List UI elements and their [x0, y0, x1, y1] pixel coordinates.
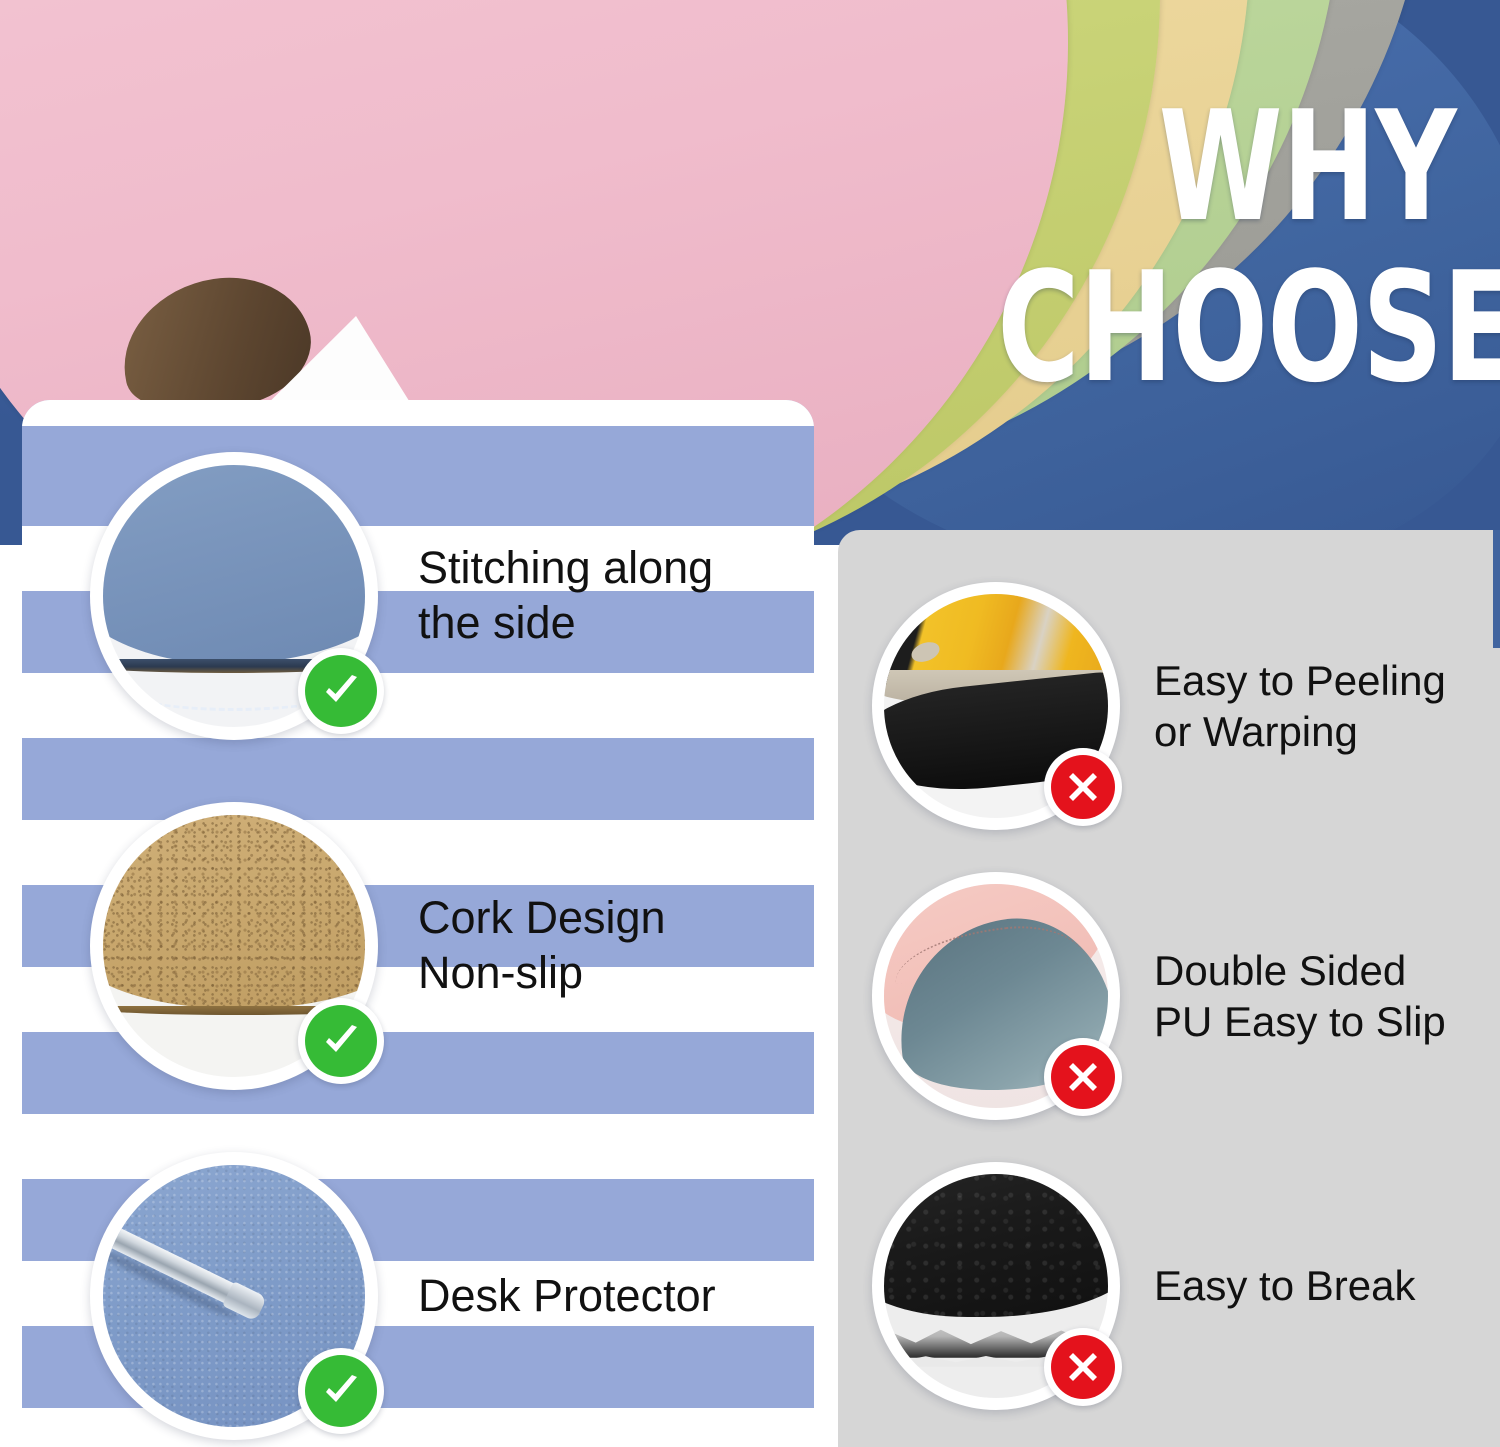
- cons-thumb-3: [872, 1162, 1120, 1410]
- black-rubber-slab: [884, 1174, 1108, 1317]
- pros-feature-row: Desk Protector: [90, 1152, 716, 1440]
- cons-feature-row: Easy to Break: [872, 1162, 1415, 1410]
- pros-feature-row: Stitching along the side: [90, 452, 713, 740]
- cork-surface: [103, 815, 365, 1009]
- panel-edge-accent: [1493, 530, 1500, 648]
- pros-thumb-1: [90, 452, 378, 740]
- pros-label-3: Desk Protector: [418, 1269, 716, 1324]
- page-title-line-1: WHY: [997, 96, 1456, 239]
- check-icon: [316, 1016, 366, 1066]
- cons-thumb-2: [872, 872, 1120, 1120]
- cross-badge-3: [1044, 1328, 1122, 1406]
- cross-icon: [1062, 1056, 1104, 1098]
- cross-icon: [1062, 1346, 1104, 1388]
- pros-label-1: Stitching along the side: [418, 541, 713, 651]
- cross-icon: [1062, 766, 1104, 808]
- pros-thumb-2: [90, 802, 378, 1090]
- pros-label-2: Cork Design Non-slip: [418, 891, 666, 1001]
- cons-feature-row: Double Sided PU Easy to Slip: [872, 872, 1446, 1120]
- pros-feature-row: Cork Design Non-slip: [90, 802, 666, 1090]
- check-badge-1: [298, 648, 384, 734]
- blue-mat-surface: [103, 465, 365, 664]
- check-badge-3: [298, 1348, 384, 1434]
- cons-label-1: Easy to Peeling or Warping: [1154, 655, 1446, 757]
- page-title-line-2: CHOOSE US: [997, 257, 1456, 400]
- cons-feature-row: Easy to Peeling or Warping: [872, 582, 1446, 830]
- cons-label-2: Double Sided PU Easy to Slip: [1154, 945, 1446, 1047]
- cons-thumb-1: [872, 582, 1120, 830]
- check-icon: [316, 666, 366, 716]
- check-badge-2: [298, 998, 384, 1084]
- cross-badge-1: [1044, 748, 1122, 826]
- page-title: WHY CHOOSE US: [836, 96, 1456, 400]
- check-icon: [316, 1366, 366, 1416]
- pros-thumb-3: [90, 1152, 378, 1440]
- cons-label-3: Easy to Break: [1154, 1260, 1415, 1311]
- cross-badge-2: [1044, 1038, 1122, 1116]
